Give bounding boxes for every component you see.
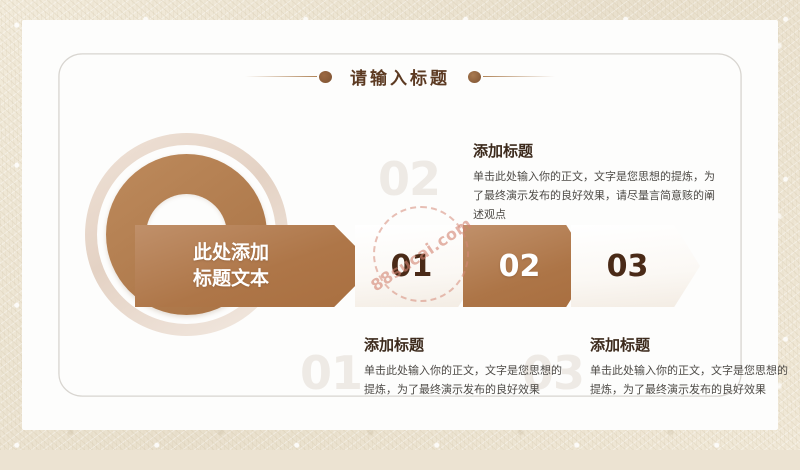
text-block-bottom-left[interactable]: 添加标题 单击此处输入你的正文，文字是您思想的提炼，为了最终演示发布的良好效果 bbox=[364, 334, 564, 400]
ghost-number-top: 02 bbox=[378, 152, 440, 206]
text-block-bottom-right-heading: 添加标题 bbox=[590, 334, 790, 355]
text-block-top-heading: 添加标题 bbox=[473, 140, 717, 161]
page-title: 请输入标题 bbox=[334, 64, 466, 89]
ghost-number-bottom-left: 01 bbox=[300, 346, 362, 400]
header-rule-right bbox=[483, 76, 555, 77]
text-block-bottom-right-body: 单击此处输入你的正文，文字是您思想的提炼，为了最终演示发布的良好效果 bbox=[590, 362, 790, 400]
header-rule-left bbox=[245, 76, 317, 77]
main-title-chevron[interactable]: 此处添加 标题文本 bbox=[135, 225, 375, 307]
text-block-top[interactable]: 添加标题 单击此处输入你的正文，文字是您思想的提炼，为了最终演示发布的良好效果，… bbox=[473, 140, 717, 225]
text-block-bottom-left-body: 单击此处输入你的正文，文字是您思想的提炼，为了最终演示发布的良好效果 bbox=[364, 362, 564, 400]
main-title-line-1: 此处添加 bbox=[193, 240, 269, 266]
text-block-bottom-left-heading: 添加标题 bbox=[364, 334, 564, 355]
slide-header: 请输入标题 bbox=[22, 64, 778, 89]
main-title-text: 此处添加 标题文本 bbox=[193, 240, 269, 291]
text-block-bottom-right[interactable]: 添加标题 单击此处输入你的正文，文字是您思想的提炼，为了最终演示发布的良好效果 bbox=[590, 334, 790, 400]
main-title-line-2: 标题文本 bbox=[193, 266, 269, 292]
slide-card: 请输入标题 02 01 03 此处添加 标题文本 01 02 03 添加标题 单… bbox=[22, 20, 778, 430]
step-chevron-03[interactable]: 03 bbox=[571, 225, 700, 307]
step-number-03: 03 bbox=[571, 225, 700, 307]
header-dot-left-icon bbox=[319, 71, 332, 83]
text-block-top-body: 单击此处输入你的正文，文字是您思想的提炼，为了最终演示发布的良好效果，请尽量言简… bbox=[473, 168, 717, 225]
header-dot-right-icon bbox=[468, 71, 481, 83]
